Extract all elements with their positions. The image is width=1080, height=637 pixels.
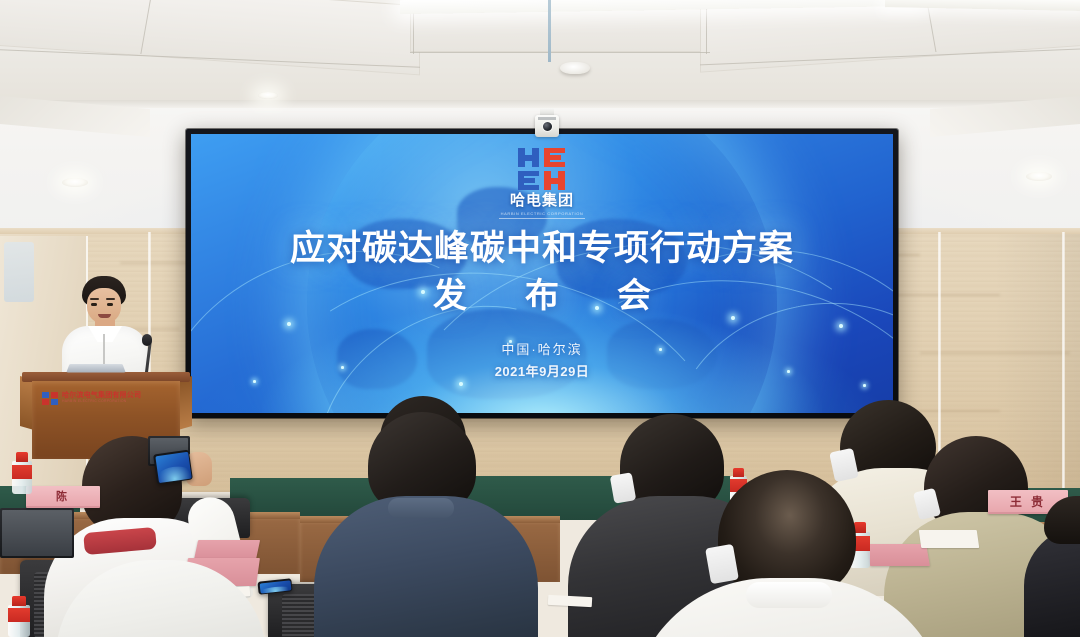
smartphone-raised[interactable] (153, 450, 193, 485)
podium-nameplate: 哈尔滨电气集团有限公司 HARBIN ELECTRIC CORPORATION (42, 388, 170, 408)
downlight-5 (258, 92, 278, 99)
presenter-brow-right (106, 298, 115, 300)
presenter-eye-right (107, 303, 113, 306)
smoke-detector-icon (560, 62, 590, 74)
cornice (0, 100, 1080, 108)
led-display-screen: 哈电集团 HARBIN ELECTRIC CORPORATION 应对碳达峰碳中… (186, 129, 898, 418)
paper-sheet-far-right[interactable] (919, 530, 980, 548)
screen-location: 中国·哈尔滨 (191, 339, 893, 358)
screen-content: 哈电集团 HARBIN ELECTRIC CORPORATION 应对碳达峰碳中… (191, 134, 893, 413)
logo-company-name-en: HARBIN ELECTRIC CORPORATION (499, 211, 585, 216)
screen-logo: 哈电集团 HARBIN ELECTRIC CORPORATION (499, 148, 585, 219)
ptz-camera-icon (534, 108, 560, 142)
presenter-mouth (98, 314, 111, 318)
podium-laptop (66, 364, 125, 373)
logo-company-name-cn: 哈电集团 (499, 193, 585, 210)
paper-sheet-right[interactable] (548, 595, 592, 607)
presenter-face (87, 288, 121, 324)
logo-rule (499, 218, 585, 219)
ceiling-hanger (548, 0, 551, 62)
face-mask (705, 544, 739, 584)
network-node (287, 322, 291, 326)
network-node (253, 380, 256, 383)
nameplate-left: 陈 (26, 486, 100, 508)
podium-company-en: HARBIN ELECTRIC CORPORATION (62, 400, 141, 404)
presenter-brow-left (90, 298, 99, 300)
downlight-1 (62, 178, 88, 187)
podium-logo-icon (42, 392, 58, 405)
network-node (459, 382, 463, 386)
screen-date: 2021年9月29日 (191, 361, 893, 380)
network-node (863, 384, 866, 387)
door-access-panel (4, 242, 34, 302)
screen-title-line2: 发布会 (191, 268, 893, 317)
microphone-icon (142, 334, 152, 346)
ceiling (0, 0, 1080, 108)
collar (388, 498, 454, 518)
desk-monitor-foreground[interactable] (0, 508, 74, 558)
face-mask (610, 472, 637, 503)
presenter-eye-left (91, 303, 97, 306)
document-folder-left[interactable] (194, 540, 260, 560)
water-bottle-foreground[interactable] (8, 596, 30, 637)
water-bottle-left[interactable] (12, 452, 32, 494)
conference-room-photo: 哈电集团 HARBIN ELECTRIC CORPORATION 应对碳达峰碳中… (0, 0, 1080, 637)
screen-title-line1: 应对碳达峰碳中和专项行动方案 (191, 220, 893, 271)
downlight-4 (1026, 172, 1052, 181)
network-node (839, 324, 843, 328)
collar (746, 582, 832, 608)
marble-seam-3 (1062, 232, 1065, 492)
podium-company-cn: 哈尔滨电气集团有限公司 (62, 392, 141, 399)
he-logo-mark (516, 148, 568, 190)
